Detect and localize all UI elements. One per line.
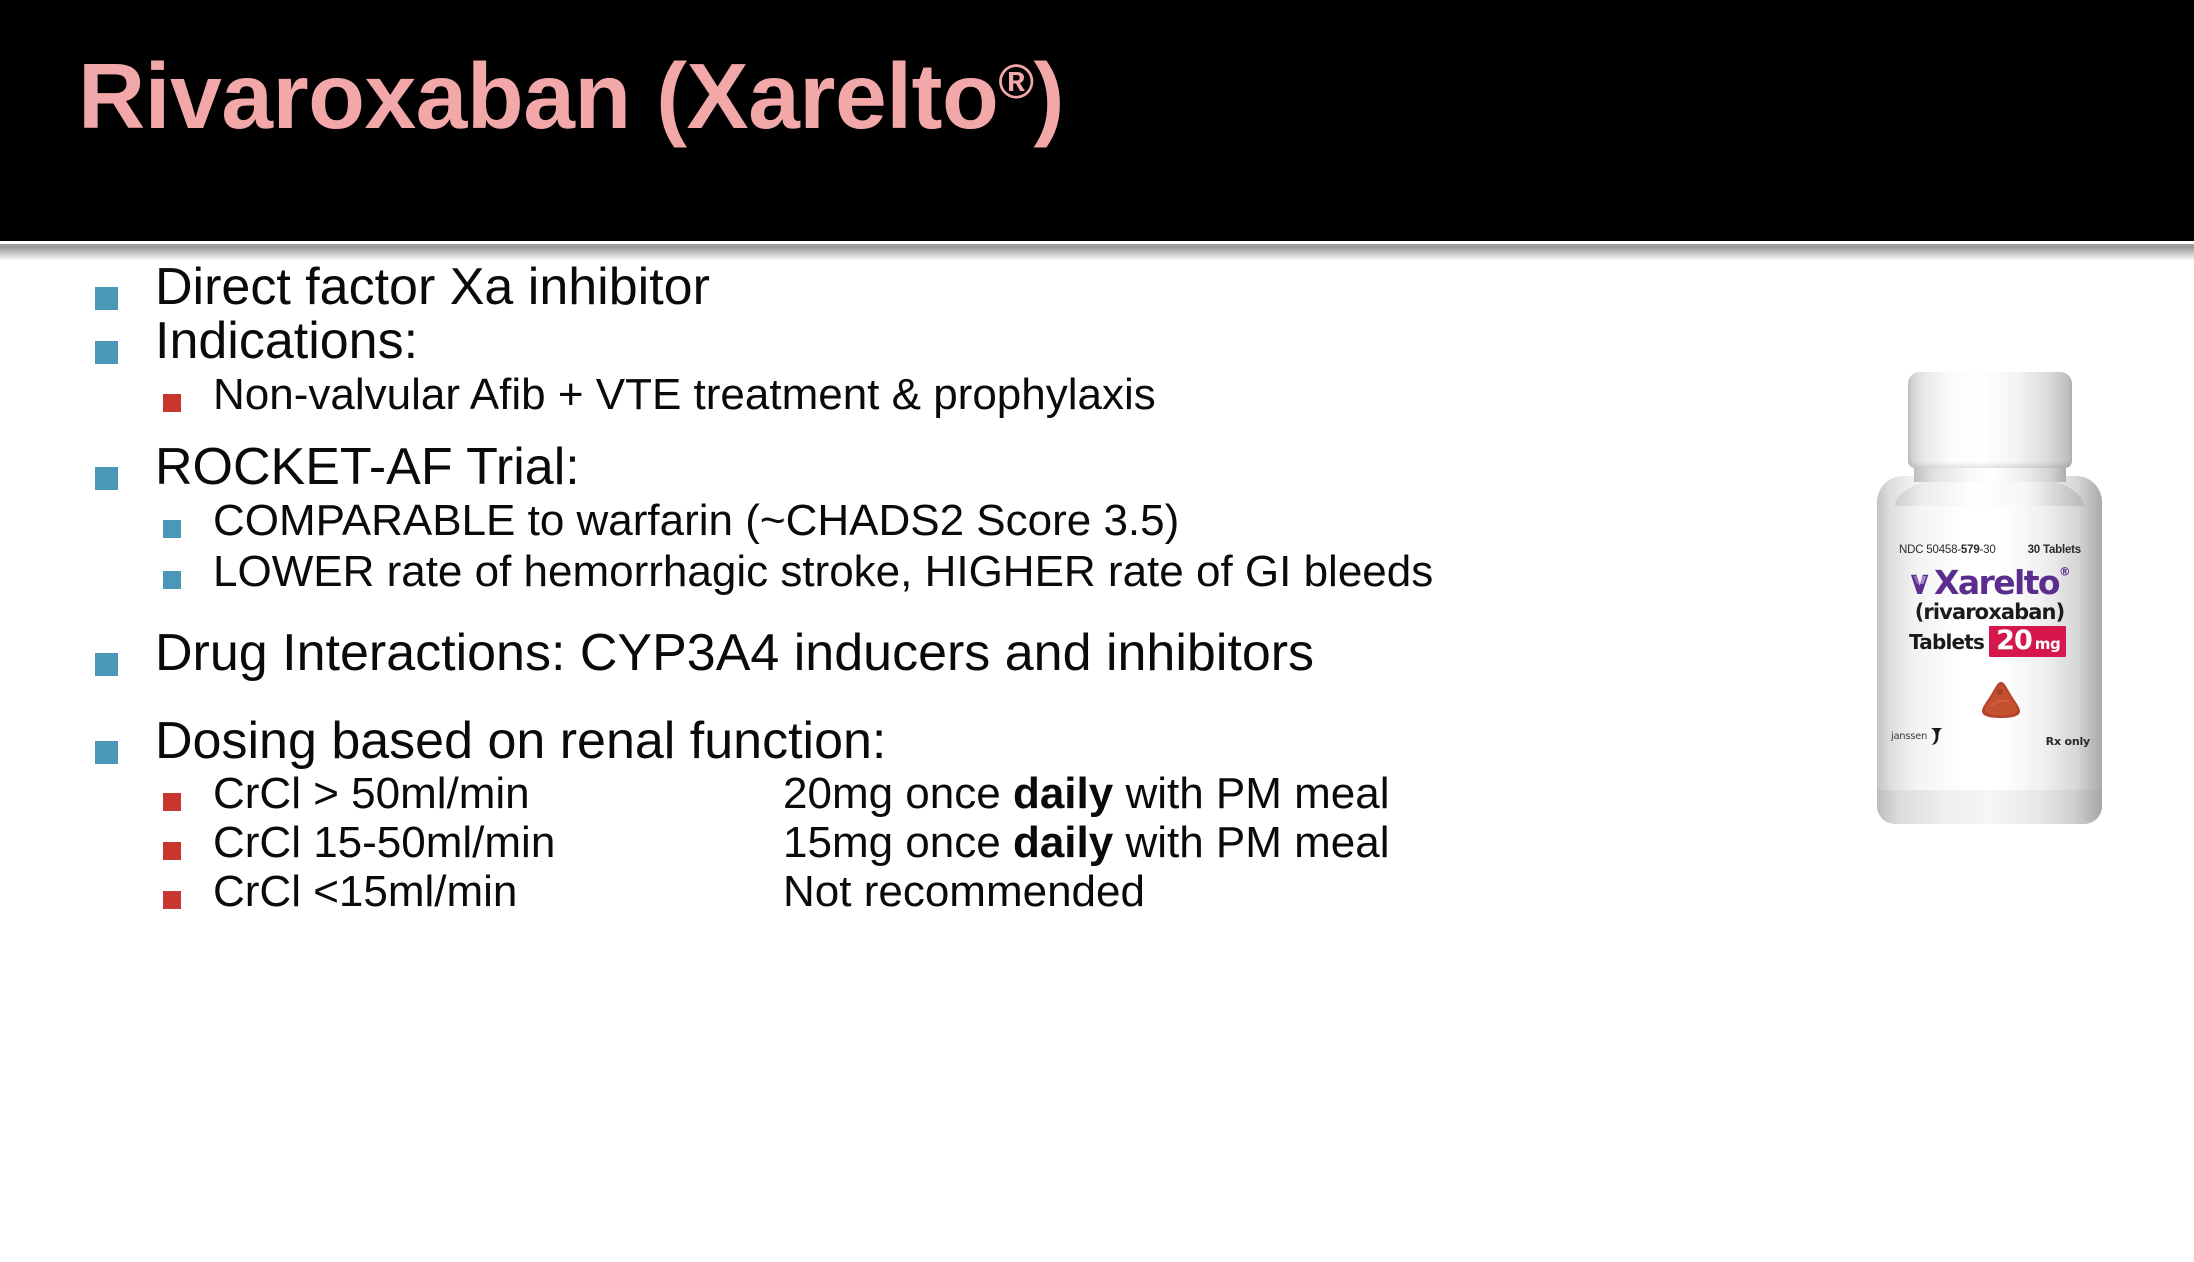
- bullet-drug-interactions: Drug Interactions: CYP3A4 inducers and i…: [95, 627, 1314, 679]
- bullet-direct-factor-xa-inhibitor: Direct factor Xa inhibitor: [95, 261, 710, 313]
- dosing-crcl: CrCl <15ml/min: [213, 870, 783, 914]
- dosing-row: CrCl 15-50ml/min 15mg once daily with PM…: [163, 821, 1390, 865]
- square-bullet-icon: [163, 793, 181, 811]
- triangular-tablet-icon: [1979, 680, 2023, 720]
- bottle-manufacturer-name: janssen: [1891, 731, 1927, 742]
- dosing-pre: 20mg once: [783, 769, 1013, 818]
- bottle-label: NDC 50458-579-30 30 Tablets Xarelto® (ri…: [1885, 544, 2094, 756]
- bottle-cap: [1908, 372, 2072, 468]
- square-bullet-icon: [95, 467, 118, 490]
- bullet-label: Dosing based on renal function:: [155, 715, 886, 767]
- dosing-row: CrCl > 50ml/min 20mg once daily with PM …: [163, 772, 1390, 816]
- bullet-indications: Indications:: [95, 315, 418, 367]
- bottle-strength-badge: 20 mg: [1989, 626, 2066, 657]
- ndc-strong: 579: [1961, 544, 1980, 556]
- page-title-main: Rivaroxaban (Xarelto: [78, 44, 998, 148]
- square-bullet-icon: [163, 571, 181, 589]
- brand-registered-icon: ®: [2059, 565, 2069, 579]
- registered-trademark-icon: ®: [998, 55, 1033, 109]
- square-bullet-icon: [163, 394, 181, 412]
- bottle-tablet-count: 30 Tablets: [2028, 544, 2081, 556]
- bottle-dosage-form: Tablets: [1909, 630, 1989, 654]
- square-bullet-icon: [95, 287, 118, 310]
- dosing-instruction: 20mg once daily with PM meal: [783, 772, 1390, 816]
- square-bullet-icon: [95, 741, 118, 764]
- bottle-strength-number: 20: [1996, 627, 2032, 655]
- subbullet-label: COMPARABLE to warfarin (~CHADS2 Score 3.…: [213, 499, 1179, 543]
- dosing-pre: Not recommended: [783, 867, 1145, 916]
- subbullet-comparable-to-warfarin: COMPARABLE to warfarin (~CHADS2 Score 3.…: [163, 499, 1179, 543]
- slide-rivaroxaban-xarelto: Rivaroxaban (Xarelto®) Direct factor Xa …: [0, 0, 2194, 1262]
- bottle-strength-row: Tablets 20 mg: [1909, 626, 2077, 657]
- bullet-dosing-renal-function: Dosing based on renal function:: [95, 715, 886, 767]
- bullet-label: ROCKET-AF Trial:: [155, 441, 580, 493]
- subbullet-nonvalvular-afib-vte: Non-valvular Afib + VTE treatment & prop…: [163, 373, 1156, 417]
- bullet-rocket-af-trial: ROCKET-AF Trial:: [95, 441, 580, 493]
- brand-text: Xarelto: [1934, 563, 2059, 602]
- dosing-instruction: 15mg once daily with PM meal: [783, 821, 1390, 865]
- dosing-crcl: CrCl 15-50ml/min: [213, 821, 783, 865]
- dosing-post: with PM meal: [1113, 818, 1389, 867]
- bottle-ndc-line: NDC 50458-579-30 30 Tablets: [1899, 544, 2081, 556]
- bottle-rx-only: Rx only: [2046, 735, 2090, 748]
- dosing-frequency: daily: [1013, 818, 1113, 867]
- bottle-brand-row: Xarelto®: [1885, 566, 2094, 599]
- xarelto-logo-icon: [1910, 571, 1932, 595]
- bottle-generic-name: (rivaroxaban): [1885, 600, 2094, 624]
- subbullet-label: LOWER rate of hemorrhagic stroke, HIGHER…: [213, 550, 1433, 594]
- bullet-label: Direct factor Xa inhibitor: [155, 261, 710, 313]
- dosing-instruction: Not recommended: [783, 870, 1145, 914]
- janssen-swoosh-icon: [1929, 726, 1945, 746]
- square-bullet-icon: [163, 842, 181, 860]
- page-title: Rivaroxaban (Xarelto®): [78, 48, 1064, 146]
- bottle-manufacturer: janssen: [1891, 726, 1945, 746]
- square-bullet-icon: [95, 653, 118, 676]
- square-bullet-icon: [95, 341, 118, 364]
- square-bullet-icon: [163, 891, 181, 909]
- bullet-label: Indications:: [155, 315, 418, 367]
- ndc-prefix: NDC 50458-: [1899, 544, 1961, 556]
- square-bullet-icon: [163, 520, 181, 538]
- dosing-pre: 15mg once: [783, 818, 1013, 867]
- subbullet-lower-hemorrhagic-higher-gi: LOWER rate of hemorrhagic stroke, HIGHER…: [163, 550, 1433, 594]
- bullet-label: Drug Interactions: CYP3A4 inducers and i…: [155, 627, 1314, 679]
- page-title-close: ): [1033, 44, 1063, 148]
- bottle-bottom-band: [1877, 790, 2102, 824]
- dosing-row: CrCl <15ml/min Not recommended: [163, 870, 1145, 914]
- xarelto-pill-bottle-image: NDC 50458-579-30 30 Tablets Xarelto® (ri…: [1855, 372, 2120, 824]
- ndc-suffix: -30: [1980, 544, 1996, 556]
- dosing-post: with PM meal: [1113, 769, 1389, 818]
- dosing-crcl: CrCl > 50ml/min: [213, 772, 783, 816]
- bottle-ndc-code: NDC 50458-579-30: [1899, 544, 1996, 556]
- dosing-frequency: daily: [1013, 769, 1113, 818]
- bottle-strength-unit: mg: [2035, 635, 2061, 653]
- subbullet-label: Non-valvular Afib + VTE treatment & prop…: [213, 373, 1156, 417]
- bottle-brand-name: Xarelto®: [1934, 566, 2069, 599]
